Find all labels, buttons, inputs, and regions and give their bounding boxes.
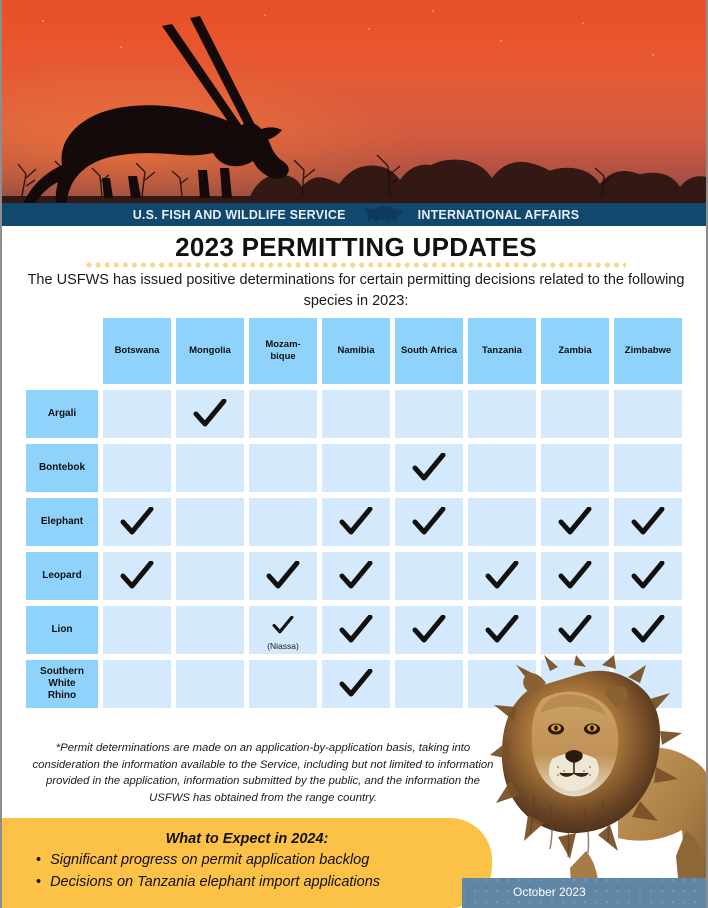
table-cell (541, 498, 609, 546)
callout-item-text: Decisions on Tanzania elephant import ap… (50, 874, 380, 890)
table-row: Elephant (26, 498, 687, 552)
checkmark-icon (558, 561, 592, 591)
checkmark-icon (631, 615, 665, 645)
oryx-silhouette-icon (2, 0, 708, 203)
table-row: Argali (26, 390, 687, 444)
table-cell (322, 390, 390, 438)
table-cell (395, 498, 463, 546)
table-cell (541, 606, 609, 654)
table-cell (468, 552, 536, 600)
table-cell (103, 390, 171, 438)
callout-item-text: Significant progress on permit applicati… (50, 852, 369, 868)
bison-logo-icon (362, 205, 402, 224)
table-corner-cell (26, 318, 98, 384)
dotted-divider-icon (86, 262, 626, 268)
table-cell (249, 498, 317, 546)
table-cell (103, 606, 171, 654)
checkmark-icon (631, 507, 665, 537)
checkmark-icon (339, 615, 373, 645)
table-cell (395, 606, 463, 654)
column-header: Botswana (103, 318, 171, 384)
table-cell (176, 660, 244, 708)
table-row: Lion(Niassa) (26, 606, 687, 660)
table-cell (468, 606, 536, 654)
checkmark-icon (339, 507, 373, 537)
table-cell (541, 390, 609, 438)
checkmark-icon (193, 399, 227, 429)
checkmark-icon (485, 615, 519, 645)
bullet-icon: • (36, 852, 41, 869)
footer-date: October 2023 (513, 885, 586, 899)
table-cell (614, 606, 682, 654)
callout-item: •Decisions on Tanzania elephant import a… (36, 874, 492, 891)
checkmark-icon (412, 453, 446, 483)
table-cell (322, 444, 390, 492)
table-cell (176, 444, 244, 492)
table-cell (468, 390, 536, 438)
table-header-row: BotswanaMongoliaMozam-biqueNamibiaSouth … (26, 318, 687, 390)
checkmark-icon (266, 561, 300, 591)
table-cell (249, 660, 317, 708)
callout-item: •Significant progress on permit applicat… (36, 852, 492, 869)
table-cell (614, 552, 682, 600)
checkmark-icon (412, 507, 446, 537)
table-cell (176, 606, 244, 654)
checkmark-icon (339, 669, 373, 699)
checkmark-icon (485, 561, 519, 591)
table-cell (103, 498, 171, 546)
table-cell (395, 660, 463, 708)
cell-note: (Niassa) (249, 641, 317, 651)
row-header: Elephant (26, 498, 98, 546)
checkmark-icon (272, 616, 294, 635)
banner-left-text: U.S. FISH AND WILDLIFE SERVICE (133, 208, 346, 222)
agency-banner: U.S. FISH AND WILDLIFE SERVICE INTERNATI… (2, 203, 708, 226)
row-header: Leopard (26, 552, 98, 600)
checkmark-icon (120, 561, 154, 591)
table-cell (322, 660, 390, 708)
row-header: Argali (26, 390, 98, 438)
checkmark-icon (339, 561, 373, 591)
checkmark-icon (120, 507, 154, 537)
table-cell (614, 498, 682, 546)
checkmark-icon (558, 615, 592, 645)
footer-bar: October 2023 (462, 878, 708, 908)
table-cell (395, 552, 463, 600)
table-cell (103, 660, 171, 708)
table-cell (322, 498, 390, 546)
table-cell (614, 390, 682, 438)
footnote-text: *Permit determinations are made on an ap… (28, 740, 498, 806)
row-header: Lion (26, 606, 98, 654)
table-cell (176, 498, 244, 546)
checkmark-icon (631, 561, 665, 591)
table-cell (249, 552, 317, 600)
table-cell (322, 606, 390, 654)
table-cell (468, 498, 536, 546)
column-header: Tanzania (468, 318, 536, 384)
column-header: Zimbabwe (614, 318, 682, 384)
table-cell (322, 552, 390, 600)
banner-right-text: INTERNATIONAL AFFAIRS (418, 208, 580, 222)
page-title: 2023 PERMITTING UPDATES (2, 232, 708, 263)
table-cell (176, 390, 244, 438)
lion-photo (490, 655, 708, 900)
page-subtitle: The USFWS has issued positive determinat… (24, 270, 688, 312)
callout-title: What to Expect in 2024: (2, 831, 492, 847)
checkmark-icon (412, 615, 446, 645)
table-cell (614, 444, 682, 492)
checkmark-icon (558, 507, 592, 537)
table-cell (176, 552, 244, 600)
column-header: South Africa (395, 318, 463, 384)
table-cell (249, 444, 317, 492)
table-cell (395, 390, 463, 438)
bullet-icon: • (36, 874, 41, 891)
infographic-page: U.S. FISH AND WILDLIFE SERVICE INTERNATI… (0, 0, 708, 908)
table-cell (249, 390, 317, 438)
callout-box: What to Expect in 2024: •Significant pro… (2, 818, 492, 908)
table-cell (103, 552, 171, 600)
table-row: Leopard (26, 552, 687, 606)
hero-image (2, 0, 708, 203)
row-header: SouthernWhiteRhino (26, 660, 98, 708)
row-header: Bontebok (26, 444, 98, 492)
table-row: Bontebok (26, 444, 687, 498)
column-header: Zambia (541, 318, 609, 384)
table-cell (541, 552, 609, 600)
column-header: Mozam-bique (249, 318, 317, 384)
table-cell: (Niassa) (249, 606, 317, 654)
table-cell (395, 444, 463, 492)
table-cell (541, 444, 609, 492)
table-cell (468, 444, 536, 492)
table-cell (103, 444, 171, 492)
column-header: Mongolia (176, 318, 244, 384)
column-header: Namibia (322, 318, 390, 384)
